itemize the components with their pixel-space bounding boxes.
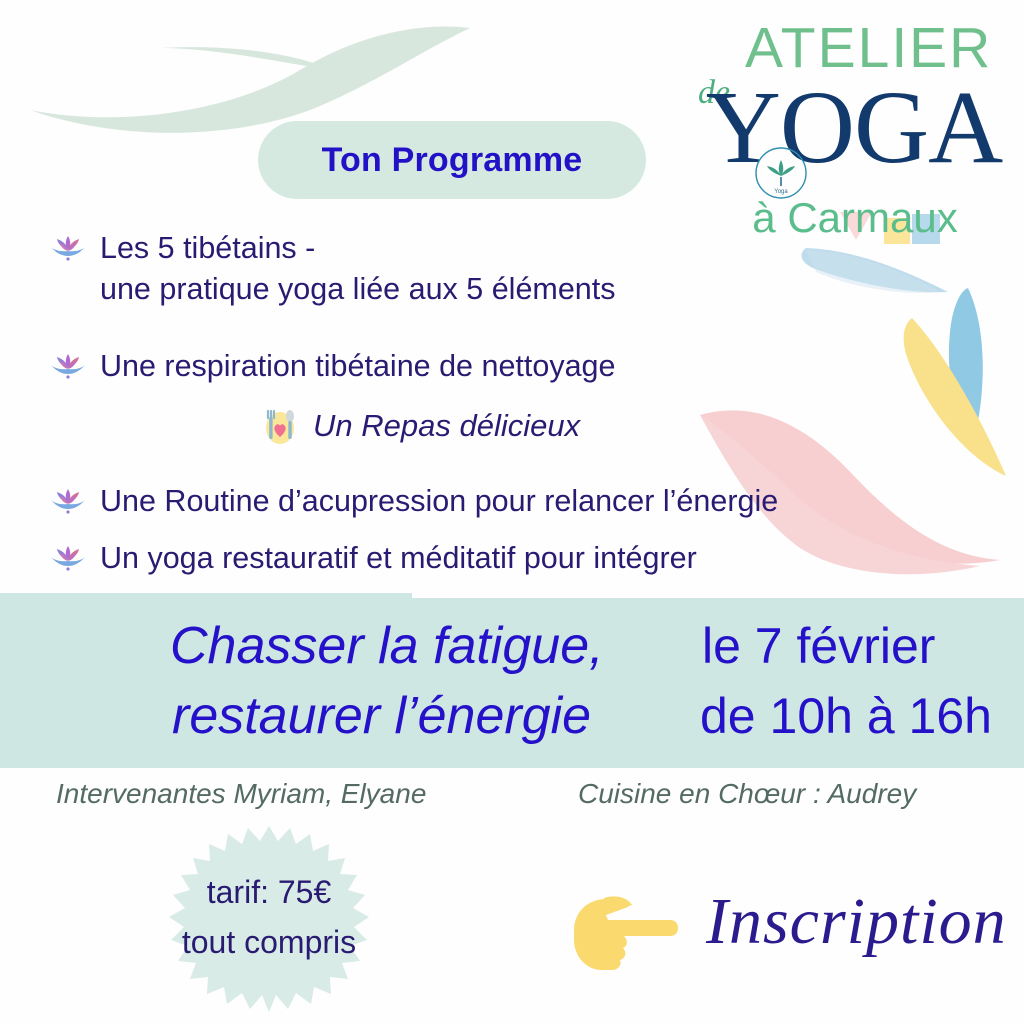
ton-programme-pill: Ton Programme: [258, 121, 646, 199]
list-item-text: Une Routine d’acupression pour relancer …: [100, 481, 778, 522]
list-item: Un yoga restauratif et méditatif pour in…: [48, 538, 697, 579]
banner-headline-line1: Chasser la fatigue,: [170, 616, 604, 676]
price-badge-text: tarif: 75€ tout compris: [150, 868, 388, 967]
logo-carmaux-text: à Carmaux: [690, 194, 1020, 242]
lotus-icon: [48, 346, 88, 386]
list-item: Une respiration tibétaine de nettoyage: [48, 346, 615, 387]
lotus-icon: [48, 538, 88, 578]
list-item: Une Routine d’acupression pour relancer …: [48, 481, 778, 522]
inscription-label[interactable]: Inscription: [706, 884, 1007, 960]
ton-programme-label: Ton Programme: [322, 141, 583, 180]
list-item: Les 5 tibétains - une pratique yoga liée…: [48, 228, 615, 311]
banner-text-layer: Chasser la fatigue, restaurer l’énergie …: [0, 598, 1024, 768]
list-item: Un Repas délicieux: [257, 403, 580, 449]
lotus-icon: [48, 481, 88, 521]
leaf-blue-vertical: [949, 288, 983, 446]
logo-yoga-text: YOGA: [694, 73, 1014, 182]
leaf-yellow-diagonal: [904, 318, 1006, 476]
banner-date-line1: le 7 février: [702, 617, 935, 675]
list-item-text: Les 5 tibétains - une pratique yoga liée…: [100, 228, 615, 311]
leaf-pale-lower: [806, 250, 940, 293]
banner-headline-line2: restaurer l’énergie: [172, 686, 591, 746]
logo-atelier-text: ATELIER: [745, 20, 992, 77]
meal-icon: [257, 403, 303, 449]
price-badge: tarif: 75€ tout compris: [150, 824, 388, 1024]
banner-date-line2: de 10h à 16h: [700, 687, 992, 745]
leaf-blue-light-upper: [802, 248, 948, 292]
list-item-text: Une respiration tibétaine de nettoyage: [100, 346, 615, 387]
pointing-hand-icon: [566, 882, 682, 978]
presenters-right: Cuisine en Chœur : Audrey: [578, 778, 916, 810]
leaf-sage-topleft: [30, 27, 470, 133]
poster-canvas: ATELIER de YOGA Yoga à Carmaux Ton Progr…: [0, 0, 1024, 1024]
logo-seal-icon: Yoga: [754, 146, 808, 200]
list-item-text: Un yoga restauratif et méditatif pour in…: [100, 538, 697, 579]
lotus-icon: [48, 228, 88, 268]
presenters-left: Intervenantes Myriam, Elyane: [56, 778, 426, 810]
logo: ATELIER de YOGA Yoga à Carmaux: [690, 18, 1020, 240]
list-item-text: Un Repas délicieux: [313, 408, 580, 444]
